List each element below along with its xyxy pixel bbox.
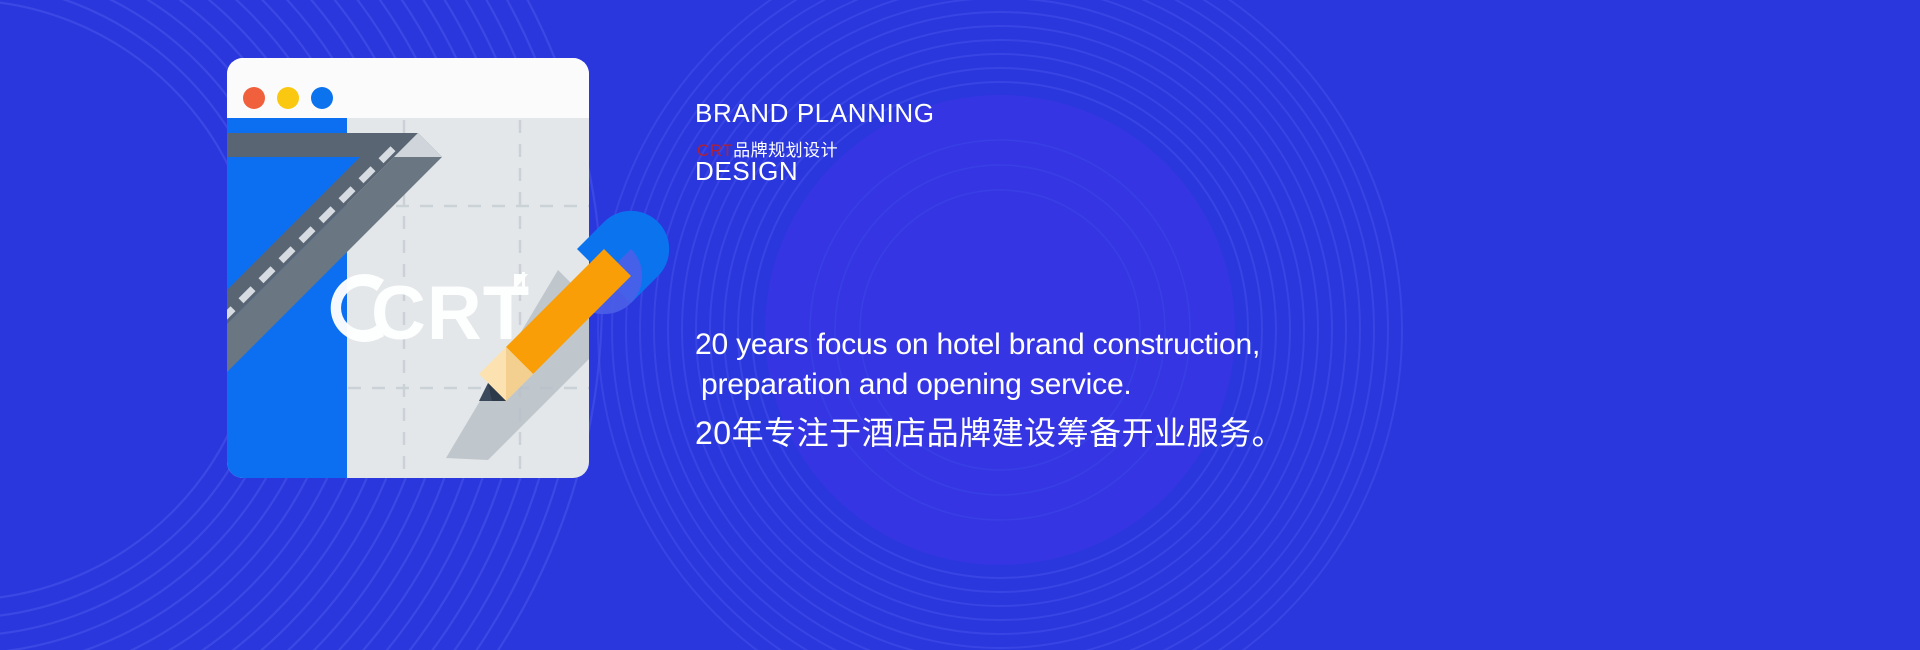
eyebrow-line-1: BRAND PLANNING <box>695 98 935 128</box>
subtitle-chinese-text: 品牌规划设计 <box>733 141 838 160</box>
subtitle-chinese: CRT品牌规划设计 <box>697 140 838 162</box>
tagline-chinese: 20年专注于酒店品牌建设筹备开业服务。 <box>695 413 1284 455</box>
eyebrow-heading: BRAND PLANNING DESIGN <box>695 70 935 186</box>
banner-text-column: BRAND PLANNING DESIGN CRT品牌规划设计 20 years… <box>695 0 1795 650</box>
tagline-en-line-2: preparation and opening service. <box>695 365 1395 405</box>
dot-blue-icon <box>311 87 333 109</box>
brand-mark-crt: CRT <box>697 141 733 160</box>
brand-design-illustration: CRT <box>188 58 688 478</box>
svg-text:CRT: CRT <box>371 271 530 356</box>
tagline-en-line-1: 20 years focus on hotel brand constructi… <box>695 325 1395 365</box>
promo-banner: CRT <box>0 0 1920 650</box>
dot-red-icon <box>243 87 265 109</box>
window-title-bar <box>227 58 589 118</box>
illustration-svg: CRT <box>188 58 688 478</box>
tagline-english: 20 years focus on hotel brand constructi… <box>695 325 1395 404</box>
dot-yellow-icon <box>277 87 299 109</box>
